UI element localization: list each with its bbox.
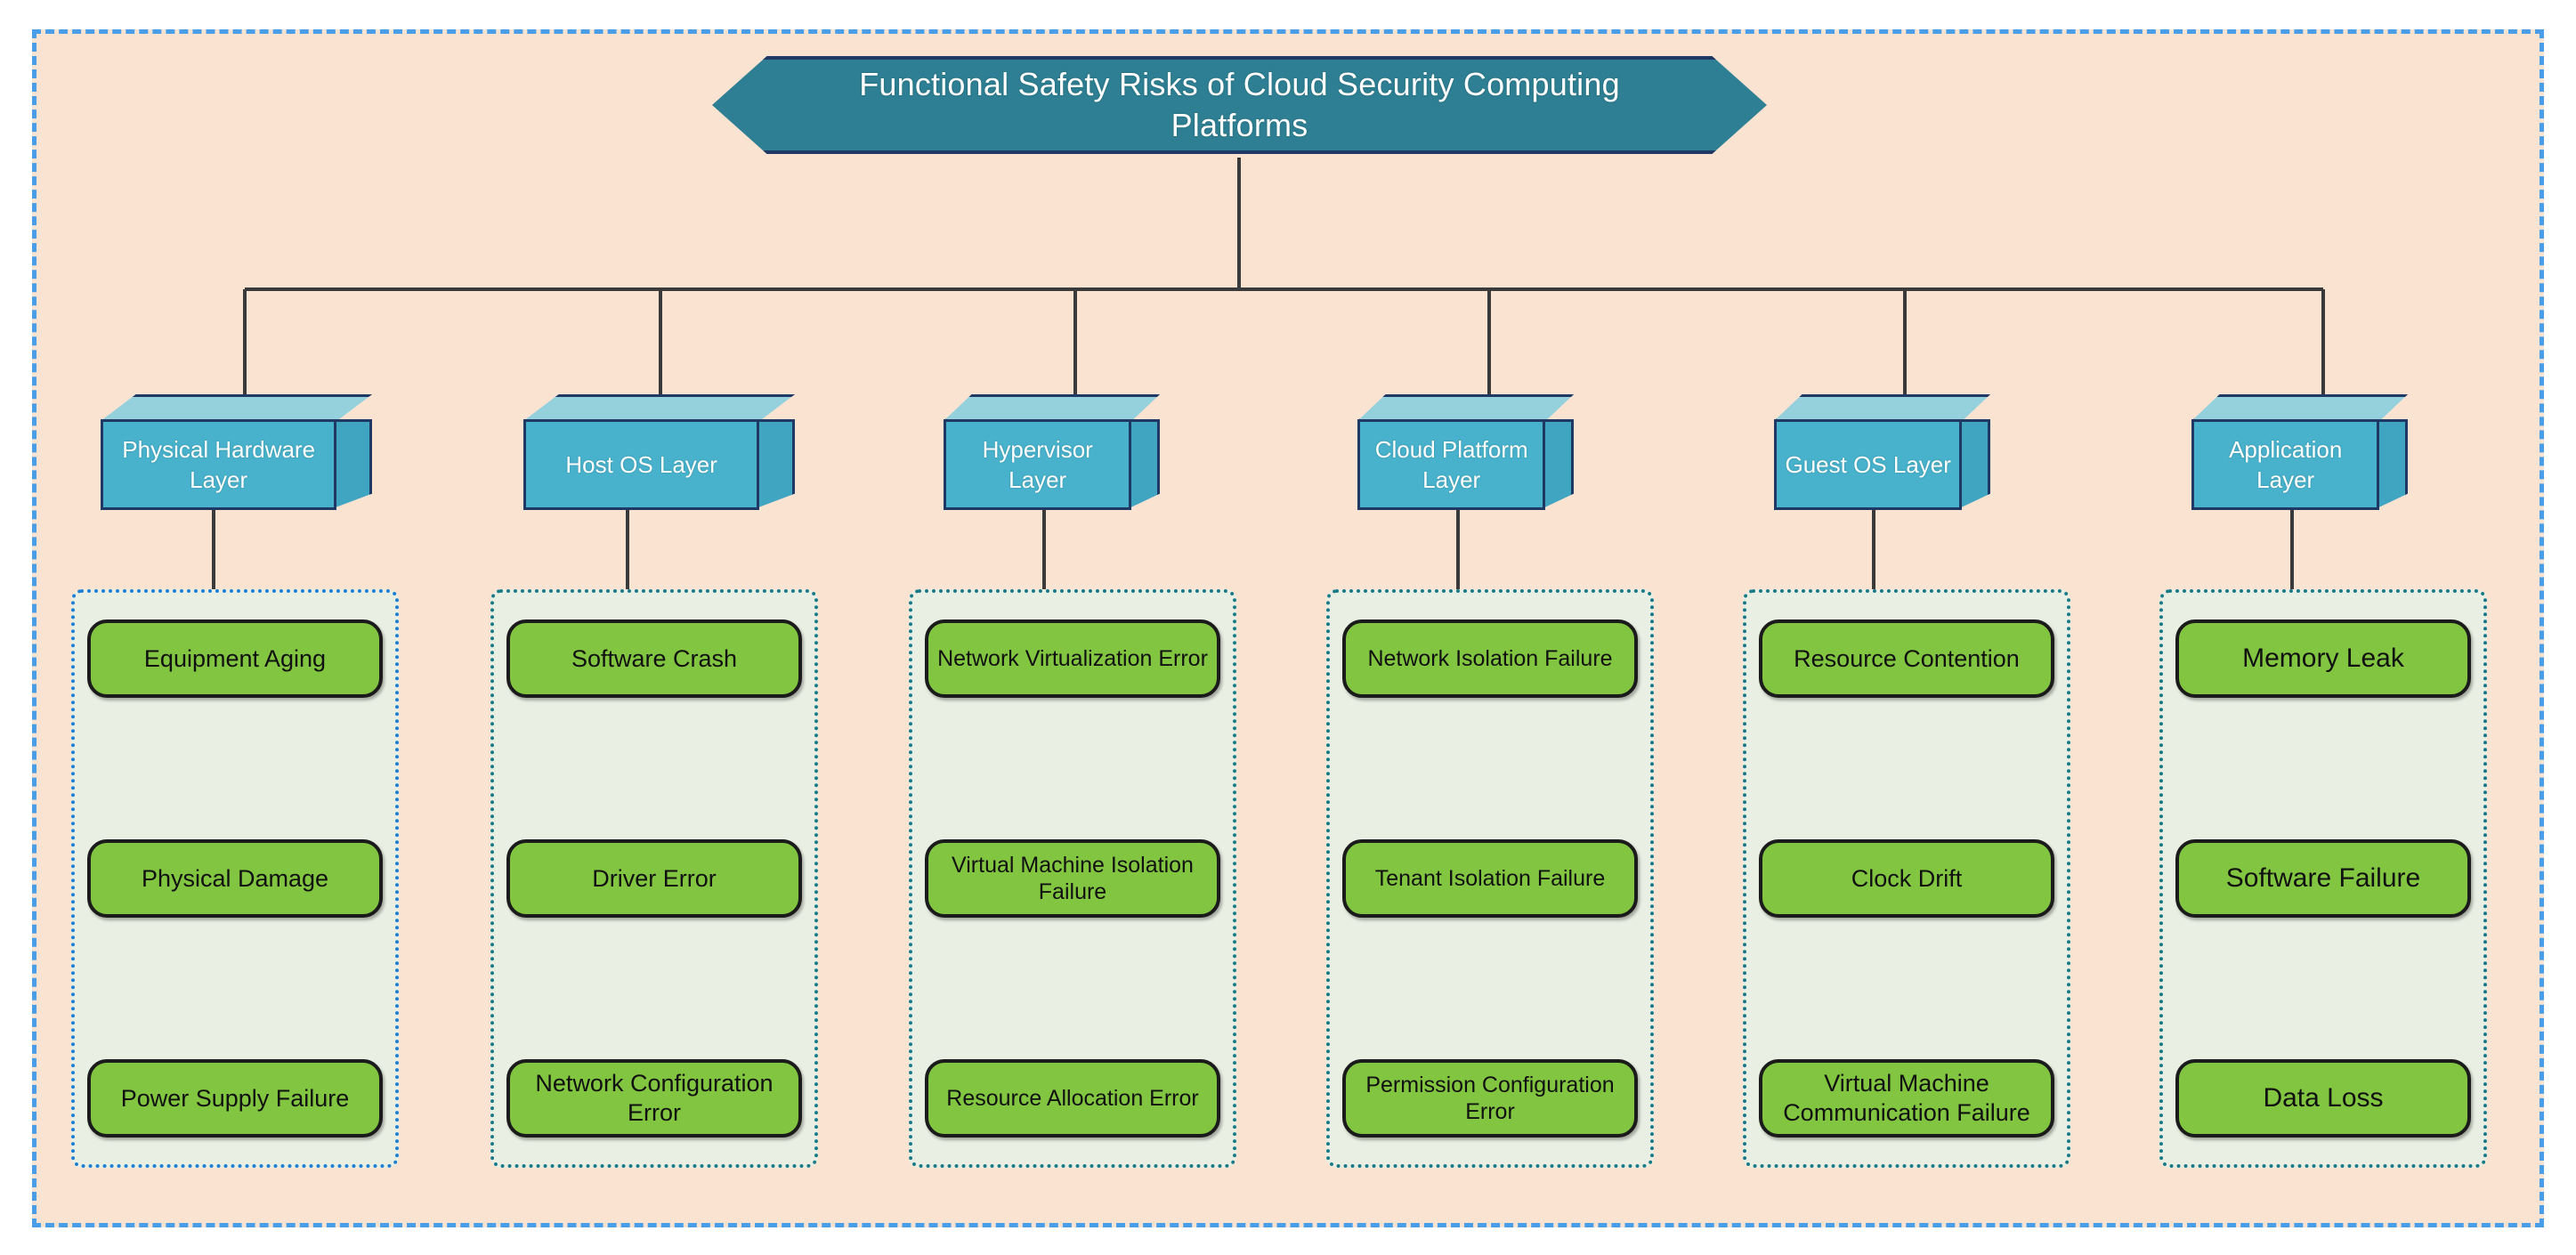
box-top-face xyxy=(1357,394,1574,421)
risk-node[interactable]: Clock Drift xyxy=(1759,839,2054,918)
risk-node[interactable]: Resource Contention xyxy=(1759,619,2054,698)
layer-label: Physical Hardware Layer xyxy=(101,419,336,510)
risk-node[interactable]: Tenant Isolation Failure xyxy=(1342,839,1638,918)
layer-label: Host OS Layer xyxy=(523,419,759,510)
layer-label: Cloud Platform Layer xyxy=(1357,419,1545,510)
risk-node[interactable]: Driver Error xyxy=(506,839,802,918)
layer-box-host-os-layer[interactable]: Host OS Layer xyxy=(523,394,795,510)
risk-node[interactable]: Network Isolation Failure xyxy=(1342,619,1638,698)
risk-node[interactable]: Virtual Machine Isolation Failure xyxy=(925,839,1220,918)
risk-node[interactable]: Equipment Aging xyxy=(87,619,383,698)
layer-box-hypervisor-layer[interactable]: Hypervisor Layer xyxy=(944,394,1160,510)
diagram-canvas: Functional Safety Risks of Cloud Securit… xyxy=(0,0,2576,1255)
page-title: Functional Safety Risks of Cloud Securit… xyxy=(712,56,1767,154)
risk-node[interactable]: Resource Allocation Error xyxy=(925,1059,1220,1138)
risk-group-hypervisor-layer: Network Virtualization Error Virtual Mac… xyxy=(909,589,1236,1168)
risk-group-physical-hardware-layer: Equipment Aging Physical Damage Power Su… xyxy=(71,589,399,1168)
risk-node[interactable]: Physical Damage xyxy=(87,839,383,918)
risk-group-application-layer: Memory Leak Software Failure Data Loss xyxy=(2159,589,2487,1168)
layer-label: Application Layer xyxy=(2191,419,2379,510)
risk-node[interactable]: Software Failure xyxy=(2175,839,2471,918)
layer-box-application-layer[interactable]: Application Layer xyxy=(2191,394,2408,510)
box-top-face xyxy=(523,394,795,421)
box-top-face xyxy=(2191,394,2408,421)
risk-node[interactable]: Data Loss xyxy=(2175,1059,2471,1138)
risk-node[interactable]: Network Configuration Error xyxy=(506,1059,802,1138)
box-top-face xyxy=(944,394,1160,421)
layer-box-guest-os-layer[interactable]: Guest OS Layer xyxy=(1774,394,1990,510)
layer-label: Guest OS Layer xyxy=(1774,419,1962,510)
risk-node[interactable]: Software Crash xyxy=(506,619,802,698)
risk-node[interactable]: Memory Leak xyxy=(2175,619,2471,698)
box-top-face xyxy=(1774,394,1990,421)
layer-box-physical-hardware-layer[interactable]: Physical Hardware Layer xyxy=(101,394,372,510)
box-top-face xyxy=(101,394,372,421)
risk-node[interactable]: Network Virtualization Error xyxy=(925,619,1220,698)
risk-group-cloud-platform-layer: Network Isolation Failure Tenant Isolati… xyxy=(1326,589,1654,1168)
risk-node[interactable]: Power Supply Failure xyxy=(87,1059,383,1138)
layer-label: Hypervisor Layer xyxy=(944,419,1131,510)
risk-group-host-os-layer: Software Crash Driver Error Network Conf… xyxy=(490,589,818,1168)
risk-node[interactable]: Permission Configuration Error xyxy=(1342,1059,1638,1138)
risk-node[interactable]: Virtual Machine Communication Failure xyxy=(1759,1059,2054,1138)
risk-group-guest-os-layer: Resource Contention Clock Drift Virtual … xyxy=(1743,589,2070,1168)
layer-box-cloud-platform-layer[interactable]: Cloud Platform Layer xyxy=(1357,394,1574,510)
